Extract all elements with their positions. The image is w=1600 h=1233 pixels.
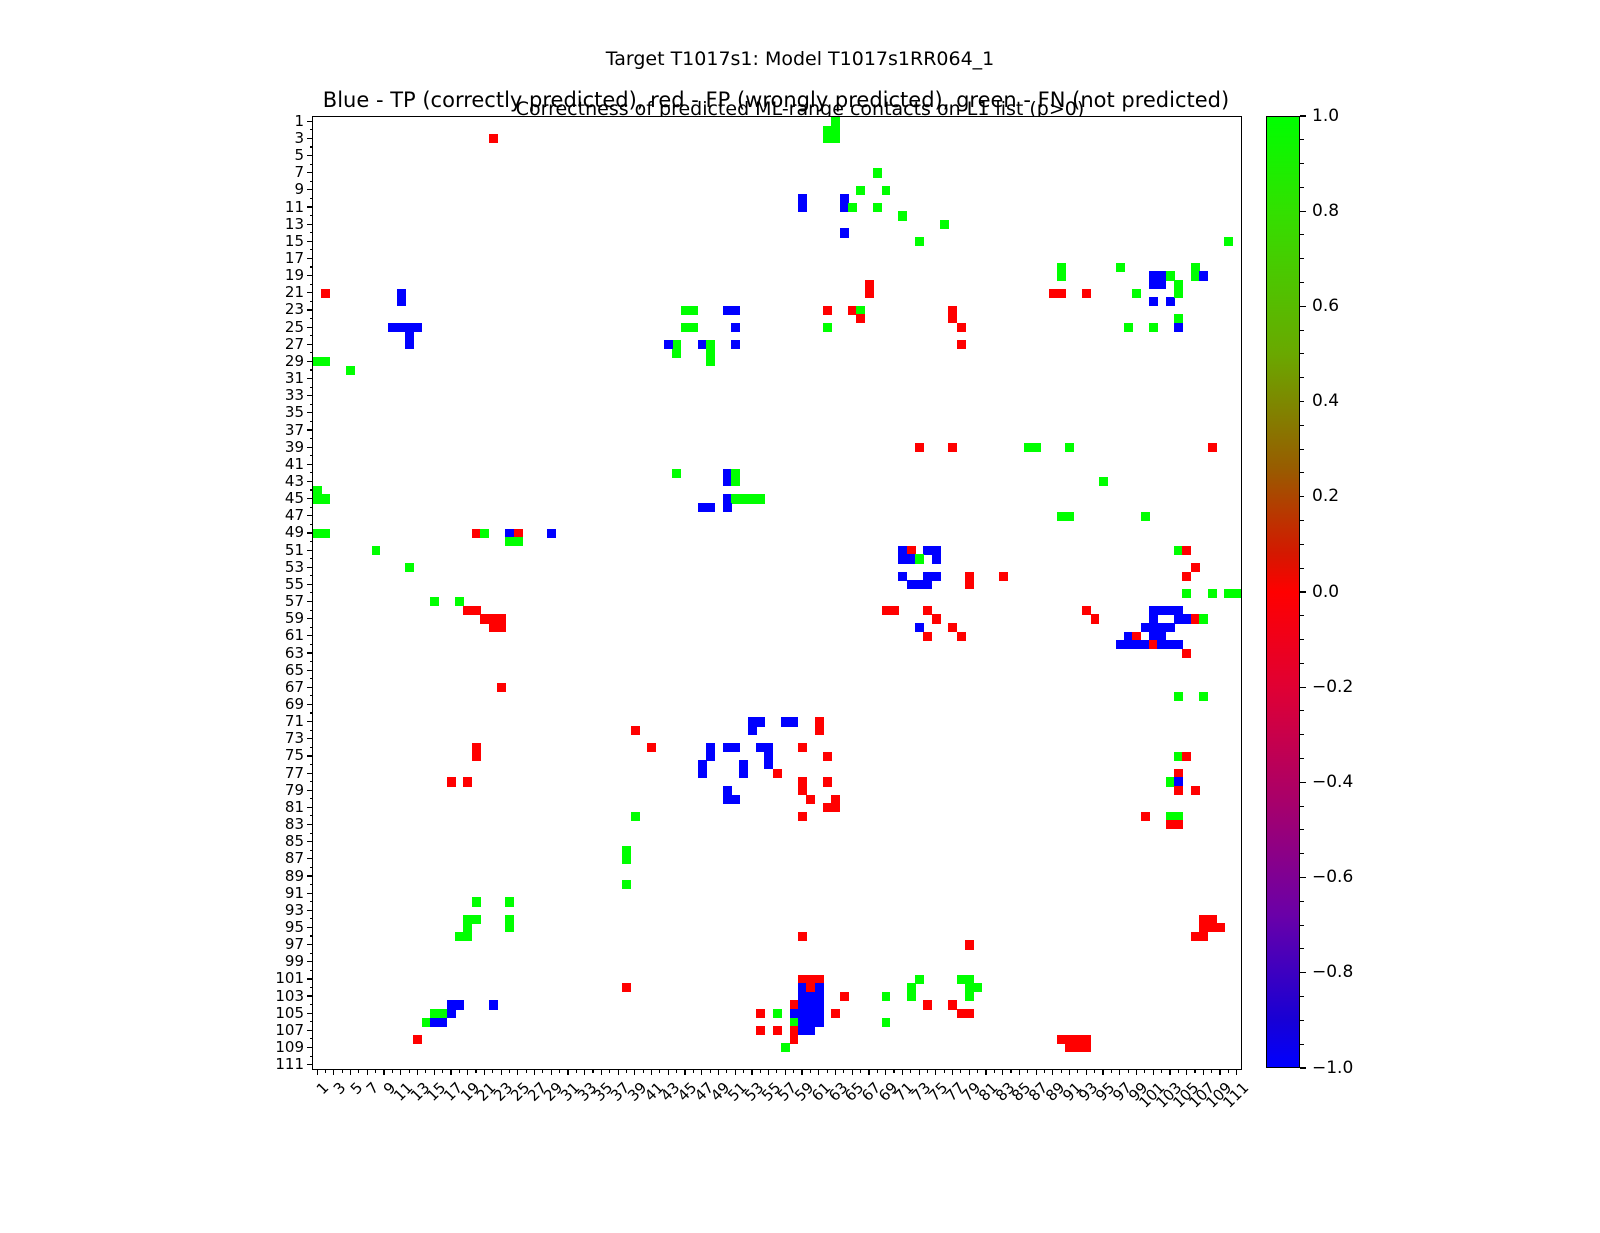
x-tick-23 [501,1069,502,1075]
contact-cell-fn [1124,323,1133,332]
contact-cell-fn [463,932,472,941]
contact-cell-tp [1166,297,1175,306]
colorbar-tick-label: 0.6 [1312,298,1339,315]
colorbar-tick [1300,853,1304,854]
x-tick-44 [676,1069,677,1073]
contact-cell-fn [1116,263,1125,272]
y-tick-label-19: 19 [285,268,304,283]
x-tick-97 [1119,1069,1120,1075]
x-tick-82 [994,1069,995,1073]
contact-cell-fn [773,1009,782,1018]
x-tick-58 [793,1069,794,1073]
colorbar-tick [1300,449,1304,450]
x-tick-63 [835,1069,836,1075]
y-tick-label-93: 93 [285,903,304,918]
contact-cell-fp [1057,289,1066,298]
x-tick-76 [944,1069,945,1073]
contact-cell-fp [773,1026,782,1035]
y-tick-29 [307,361,313,362]
x-tick-77 [952,1069,953,1075]
figure-canvas: Target T1017s1: Model T1017s1RR064_1 Cor… [0,0,1600,1200]
contact-cell-fp [798,932,807,941]
x-tick-62 [827,1069,828,1073]
contact-cell-fn [831,134,840,143]
y-tick-57 [307,601,313,602]
colorbar[interactable]: 1.00.80.60.40.20.0−0.2−0.4−0.6−0.8−1.0 [1266,116,1300,1068]
x-tick-68 [877,1069,878,1073]
x-tick-71 [902,1069,903,1075]
contact-cell-fp [865,280,874,289]
y-tick-label-43: 43 [285,474,304,489]
contact-cell-fp [1182,546,1191,555]
contact-cell-fp [497,683,506,692]
y-tick-66 [310,678,314,679]
y-tick-59 [307,618,313,619]
x-tick-55 [768,1069,769,1075]
contact-cell-fn [622,880,631,889]
y-tick-2 [310,129,314,130]
colorbar-tick [1300,687,1306,688]
x-tick-17 [450,1069,451,1075]
contact-cell-fn [965,992,974,1001]
contact-cell-fn [915,975,924,984]
y-tick-label-81: 81 [285,800,304,815]
x-tick-79 [969,1069,970,1075]
y-tick-14 [310,232,314,233]
y-tick-109 [307,1047,313,1048]
y-tick-label-29: 29 [285,354,304,369]
x-tick-93 [1086,1069,1087,1075]
contact-cell-fp [1174,786,1183,795]
x-tick-106 [1194,1069,1195,1073]
contact-cell-fp [815,726,824,735]
y-tick-81 [307,807,313,808]
y-tick-label-57: 57 [285,594,304,609]
contact-cell-fp [1191,786,1200,795]
contact-cell-fp [1182,752,1191,761]
contact-cell-fp [790,1035,799,1044]
contact-cell-fp [472,752,481,761]
y-tick-83 [307,824,313,825]
y-tick-76 [310,764,314,765]
contact-cell-tp [455,1000,464,1009]
contact-cell-fp [798,743,807,752]
x-tick-26 [526,1069,527,1073]
x-tick-32 [576,1069,577,1073]
colorbar-tick [1300,330,1304,331]
x-tick-69 [885,1069,886,1075]
colorbar-tick [1300,401,1304,402]
x-tick-51 [735,1069,736,1075]
contact-cell-fn [882,186,891,195]
x-tick-95 [1102,1069,1103,1075]
x-tick-3 [333,1069,334,1075]
x-tick-29 [551,1069,552,1075]
contact-cell-fn [1174,692,1183,701]
y-tick-10 [310,198,314,199]
contact-cell-fp [823,752,832,761]
y-tick-label-85: 85 [285,834,304,849]
contact-cell-fn [321,529,330,538]
colorbar-tick [1300,829,1304,830]
colorbar-tick [1300,1020,1304,1021]
y-tick-label-69: 69 [285,697,304,712]
x-tick-61 [818,1069,819,1075]
contact-cell-tp [447,1009,456,1018]
y-tick-label-9: 9 [294,182,304,197]
x-tick-35 [601,1069,602,1075]
contact-cell-tp [756,717,765,726]
x-tick-27 [534,1069,535,1075]
y-tick-label-35: 35 [285,405,304,420]
contact-cell-fn [1141,512,1150,521]
y-tick-label-39: 39 [285,440,304,455]
y-tick-41 [307,464,313,465]
y-tick-106 [310,1021,314,1022]
contact-cell-tp [698,769,707,778]
contact-cell-fn [672,349,681,358]
contact-cell-fp [1182,649,1191,658]
contact-cell-tp [731,306,740,315]
x-tick-74 [927,1069,928,1073]
colorbar-tick [1300,972,1306,973]
y-tick-label-107: 107 [275,1023,304,1038]
colorbar-tick [1300,425,1304,426]
x-tick-21 [484,1069,485,1075]
x-tick-83 [1002,1069,1003,1075]
y-tick-label-23: 23 [285,302,304,317]
x-tick-85 [1019,1069,1020,1075]
colorbar-tick-label: −0.4 [1312,774,1353,791]
contact-cell-tp [1149,297,1158,306]
y-tick-label-11: 11 [285,200,304,215]
y-tick-111 [307,1064,313,1065]
y-tick-30 [310,369,314,370]
colorbar-tick [1300,877,1306,878]
y-tick-label-21: 21 [285,285,304,300]
x-tick-39 [634,1069,635,1075]
y-tick-label-47: 47 [285,508,304,523]
y-tick-label-77: 77 [285,766,304,781]
x-tick-24 [509,1069,510,1073]
contact-cell-fn [756,494,765,503]
y-tick-7 [307,172,313,173]
x-tick-37 [618,1069,619,1075]
y-tick-23 [307,309,313,310]
x-tick-14 [425,1069,426,1073]
colorbar-tick [1300,472,1304,473]
contact-cell-fn [781,1043,790,1052]
contact-cell-tp [1199,271,1208,280]
x-tick-104 [1178,1069,1179,1073]
y-tick-82 [310,815,314,816]
x-tick-10 [392,1069,393,1073]
x-tick-72 [910,1069,911,1073]
y-tick-39 [307,447,313,448]
y-tick-9 [307,189,313,190]
y-tick-84 [310,833,314,834]
y-tick-label-65: 65 [285,663,304,678]
y-tick-94 [310,918,314,919]
y-tick-42 [310,472,314,473]
contact-cell-tp [489,1000,498,1009]
y-tick-label-61: 61 [285,628,304,643]
y-tick-5 [307,155,313,156]
y-tick-100 [310,970,314,971]
contact-cell-fp [497,623,506,632]
contact-cell-tp [806,1026,815,1035]
y-tick-91 [307,893,313,894]
x-tick-91 [1069,1069,1070,1075]
contact-cell-fn [631,812,640,821]
colorbar-tick-label: 0.4 [1312,393,1339,410]
x-tick-65 [852,1069,853,1075]
x-tick-108 [1211,1069,1212,1073]
x-tick-11 [400,1069,401,1075]
y-tick-label-103: 103 [275,989,304,1004]
contact-cell-fp [957,323,966,332]
colorbar-tick [1300,639,1304,640]
x-tick-96 [1111,1069,1112,1073]
x-tick-30 [559,1069,560,1073]
x-tick-34 [592,1069,593,1073]
contact-cell-fn [1032,443,1041,452]
contact-cell-fp [1191,563,1200,572]
colorbar-tick-label: −0.8 [1312,964,1353,981]
contact-cell-fn [405,563,414,572]
contact-cell-fp [890,606,899,615]
y-tick-33 [307,395,313,396]
y-tick-105 [307,1013,313,1014]
y-tick-54 [310,575,314,576]
contact-cell-fp [447,777,456,786]
y-tick-98 [310,953,314,954]
y-tick-12 [310,215,314,216]
y-tick-89 [307,875,313,876]
x-tick-67 [868,1069,869,1075]
y-tick-102 [310,987,314,988]
y-tick-55 [307,584,313,585]
contact-cell-tp [932,554,941,563]
x-tick-12 [409,1069,410,1073]
y-tick-96 [310,935,314,936]
y-tick-19 [307,275,313,276]
contact-cell-tp [932,572,941,581]
y-tick-20 [310,284,314,285]
colorbar-tick [1300,282,1304,283]
colorbar-tick [1300,948,1304,949]
contact-cell-tp [923,580,932,589]
x-tick-22 [492,1069,493,1073]
colorbar-tick-label: 1.0 [1312,108,1339,125]
contact-cell-tp [731,323,740,332]
contact-cell-tp [815,1018,824,1027]
colorbar-tick [1300,234,1304,235]
colorbar-gradient [1266,116,1300,1068]
y-tick-label-15: 15 [285,234,304,249]
contact-cell-tp [397,297,406,306]
y-tick-79 [307,790,313,791]
y-tick-70 [310,712,314,713]
contact-cell-fp [1141,812,1150,821]
x-tick-99 [1136,1069,1137,1075]
x-tick-5 [350,1069,351,1075]
x-tick-38 [626,1069,627,1073]
contact-cell-fp [756,1009,765,1018]
x-tick-13 [417,1069,418,1075]
contact-cell-fn [1199,692,1208,701]
y-tick-58 [310,610,314,611]
contact-cell-tp [1174,323,1183,332]
y-tick-51 [307,550,313,551]
y-tick-13 [307,224,313,225]
y-tick-label-13: 13 [285,217,304,232]
y-tick-label-111: 111 [275,1057,304,1072]
y-tick-68 [310,695,314,696]
colorbar-tick-label: −0.2 [1312,679,1353,696]
x-tick-87 [1036,1069,1037,1075]
colorbar-tick [1300,377,1304,378]
y-tick-label-59: 59 [285,611,304,626]
contact-cell-fp [1208,443,1217,452]
contact-cell-fp [1082,289,1091,298]
contact-cell-fn [973,983,982,992]
y-tick-87 [307,858,313,859]
colorbar-tick [1300,1067,1306,1068]
contact-cell-fp [923,1000,932,1009]
contact-cell-tp [1166,623,1175,632]
y-tick-label-91: 91 [285,886,304,901]
contact-cell-tp [706,503,715,512]
y-tick-86 [310,850,314,851]
contact-cell-tp [438,1018,447,1027]
colorbar-tick-label: 0.2 [1312,488,1339,505]
y-tick-label-105: 105 [275,1006,304,1021]
contact-cell-tp [840,228,849,237]
y-tick-36 [310,421,314,422]
x-tick-70 [893,1069,894,1073]
y-tick-label-97: 97 [285,937,304,952]
x-tick-110 [1228,1069,1229,1073]
contact-cell-fp [823,306,832,315]
y-tick-label-73: 73 [285,731,304,746]
y-tick-65 [307,670,313,671]
y-tick-label-27: 27 [285,337,304,352]
y-tick-74 [310,747,314,748]
x-tick-43 [668,1069,669,1075]
contact-cell-fp [865,289,874,298]
contact-cell-fn [480,529,489,538]
x-tick-105 [1186,1069,1187,1075]
y-tick-label-25: 25 [285,320,304,335]
y-tick-label-49: 49 [285,525,304,540]
y-tick-label-67: 67 [285,680,304,695]
y-tick-label-37: 37 [285,423,304,438]
y-tick-27 [307,344,313,345]
contact-cell-tp [405,340,414,349]
contact-cell-fp [948,443,957,452]
colorbar-tick [1300,663,1304,664]
contact-cell-fp [622,983,631,992]
y-tick-11 [307,206,313,207]
y-tick-24 [310,318,314,319]
y-tick-93 [307,910,313,911]
x-tick-19 [467,1069,468,1075]
contact-cell-fn [873,203,882,212]
x-tick-15 [434,1069,435,1075]
colorbar-tick-label: −0.6 [1312,869,1353,886]
contact-cell-fn [1149,323,1158,332]
y-tick-71 [307,721,313,722]
y-tick-22 [310,301,314,302]
contact-cell-fp [756,1026,765,1035]
axes-title-legend: Blue - TP (correctly predicted), red - F… [312,88,1240,112]
contact-map-plot[interactable]: 1133557799111113131515171719192121232325… [312,116,1242,1070]
y-tick-label-79: 79 [285,783,304,798]
x-tick-45 [684,1069,685,1075]
y-tick-label-75: 75 [285,748,304,763]
x-tick-6 [358,1069,359,1073]
y-tick-52 [310,558,314,559]
contact-cell-fp [1182,572,1191,581]
x-tick-48 [710,1069,711,1073]
y-tick-80 [310,798,314,799]
contact-cell-fn [1182,589,1191,598]
x-tick-25 [517,1069,518,1075]
y-tick-77 [307,773,313,774]
x-tick-7 [367,1069,368,1075]
contact-cell-fn [1099,477,1108,486]
y-tick-18 [310,266,314,267]
y-tick-37 [307,429,313,430]
contact-cell-fn [346,366,355,375]
contact-cell-fn [882,1018,891,1027]
x-tick-42 [659,1069,660,1073]
colorbar-tick [1300,211,1306,212]
y-tick-95 [307,927,313,928]
y-tick-32 [310,387,314,388]
contact-cell-fn [472,897,481,906]
contact-cell-fn [1174,280,1183,289]
x-tick-88 [1044,1069,1045,1073]
contact-cell-tp [1157,280,1166,289]
x-tick-111 [1236,1069,1237,1075]
x-tick-28 [542,1069,543,1073]
y-tick-28 [310,352,314,353]
contact-cell-fn [321,494,330,503]
y-tick-35 [307,412,313,413]
contact-cell-fp [957,632,966,641]
contact-cell-tp [706,752,715,761]
y-tick-label-53: 53 [285,560,304,575]
contact-cell-fn [505,897,514,906]
x-tick-52 [743,1069,744,1073]
y-tick-label-17: 17 [285,251,304,266]
y-tick-8 [310,181,314,182]
colorbar-tick [1300,115,1306,116]
contact-cell-fn [907,992,916,1001]
contact-cell-fp [631,726,640,735]
y-tick-26 [310,335,314,336]
y-tick-73 [307,738,313,739]
x-tick-92 [1077,1069,1078,1073]
contact-cell-fp [1199,932,1208,941]
y-tick-6 [310,164,314,165]
x-tick-66 [860,1069,861,1073]
contact-cell-fn [898,211,907,220]
y-tick-label-109: 109 [275,1040,304,1055]
y-tick-label-41: 41 [285,457,304,472]
